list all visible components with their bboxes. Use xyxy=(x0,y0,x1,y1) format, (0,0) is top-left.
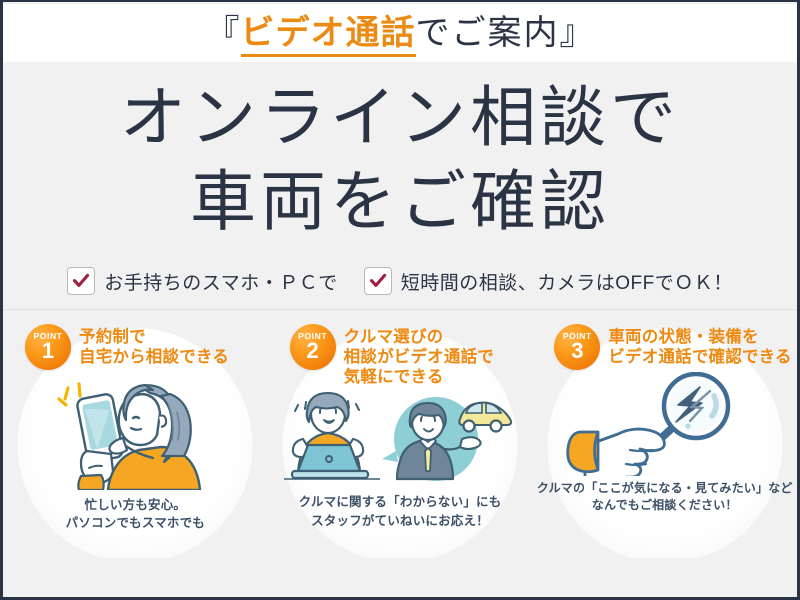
point-title-line: 車両の状態・装備を xyxy=(608,327,791,347)
footer-spacer xyxy=(3,558,797,599)
point-badge-number: 3 xyxy=(571,340,583,362)
header-highlight-text: ビデオ通話 xyxy=(241,14,416,57)
point-caption-line: なんでもご相談ください！ xyxy=(532,497,797,514)
point-caption-2: クルマに関する「わからない」にも スタッフがていねいにお応え！ xyxy=(268,493,533,529)
point-title-2: クルマ選びの 相談がビデオ通話で 気軽にできる xyxy=(344,324,494,387)
check-item-2: 短時間の相談、カメラはOFFでＯＫ！ xyxy=(364,267,733,295)
point-title-1: 予約制で 自宅から相談できる xyxy=(79,324,229,367)
point-title-line: 相談がビデオ通話で xyxy=(344,347,494,367)
point-column-3: POINT 3 車両の状態・装備を ビデオ通話で確認できる xyxy=(532,310,797,558)
point-column-2: POINT 2 クルマ選びの 相談がビデオ通話で 気軽にできる xyxy=(268,310,533,558)
check-item-1: お手持ちのスマホ・ＰＣで xyxy=(67,267,337,295)
check-label-2: 短時間の相談、カメラはOFFでＯＫ！ xyxy=(401,268,733,295)
promo-banner: 『ビデオ通話でご案内』 オンライン相談で 車両をご確認 お手持ちのスマホ・ＰＣで… xyxy=(0,0,800,600)
hand-holding-magnifier-illustration xyxy=(532,372,797,476)
point-title-line: クルマ選びの xyxy=(344,327,494,347)
point-badge-2: POINT 2 xyxy=(290,324,336,370)
header-open-bracket: 『 xyxy=(206,14,241,52)
point-caption-line: スタッフがていねいにお応え！ xyxy=(268,512,533,530)
point-title-line: 気軽にできる xyxy=(344,367,494,387)
point-caption-line: クルマの「ここが気になる・見てみたい」など xyxy=(532,480,797,497)
point-column-1: POINT 1 予約制で 自宅から相談できる xyxy=(3,310,268,558)
header-close-bracket: 』 xyxy=(560,14,595,52)
point-caption-1: 忙しい方も安心。 パソコンでもスマホでも xyxy=(3,496,268,532)
point-caption-line: クルマに関する「わからない」にも xyxy=(268,493,533,511)
check-label-1: お手持ちのスマホ・ＰＣで xyxy=(104,268,337,295)
check-icon xyxy=(364,267,392,295)
banner-header: 『ビデオ通話でご案内』 xyxy=(3,4,797,62)
point-caption-3: クルマの「ここが気になる・見てみたい」など なんでもご相談ください！ xyxy=(532,480,797,515)
point-title-line: 予約制で xyxy=(79,327,229,347)
point-header-1: POINT 1 予約制で 自宅から相談できる xyxy=(3,310,268,370)
check-icon xyxy=(67,267,95,295)
hero-headline-line-2: 車両をご確認 xyxy=(3,168,797,234)
woman-at-laptop-and-staff-with-car-illustration xyxy=(268,389,533,483)
point-badge-1: POINT 1 xyxy=(25,324,71,370)
point-badge-3: POINT 3 xyxy=(554,324,600,370)
point-caption-line: 忙しい方も安心。 xyxy=(3,496,268,514)
point-caption-line: パソコンでもスマホでも xyxy=(3,514,268,532)
feature-check-row: お手持ちのスマホ・ＰＣで 短時間の相談、カメラはOFFでＯＫ！ xyxy=(3,258,797,304)
hero-headline-line-1: オンライン相談で xyxy=(3,84,797,150)
point-badge-number: 1 xyxy=(42,340,54,362)
point-badge-number: 2 xyxy=(307,340,319,362)
point-title-line: 自宅から相談できる xyxy=(79,347,229,367)
point-header-2: POINT 2 クルマ選びの 相談がビデオ通話で 気軽にできる xyxy=(268,310,533,387)
header-tail-text: でご案内 xyxy=(416,14,560,52)
point-title-line: ビデオ通話で確認できる xyxy=(608,347,791,367)
point-header-3: POINT 3 車両の状態・装備を ビデオ通話で確認できる xyxy=(532,310,797,370)
header-title: 『ビデオ通話でご案内』 xyxy=(206,16,595,50)
points-section: POINT 1 予約制で 自宅から相談できる xyxy=(3,310,797,558)
woman-with-smartphone-illustration xyxy=(3,372,268,490)
point-title-3: 車両の状態・装備を ビデオ通話で確認できる xyxy=(608,324,791,367)
